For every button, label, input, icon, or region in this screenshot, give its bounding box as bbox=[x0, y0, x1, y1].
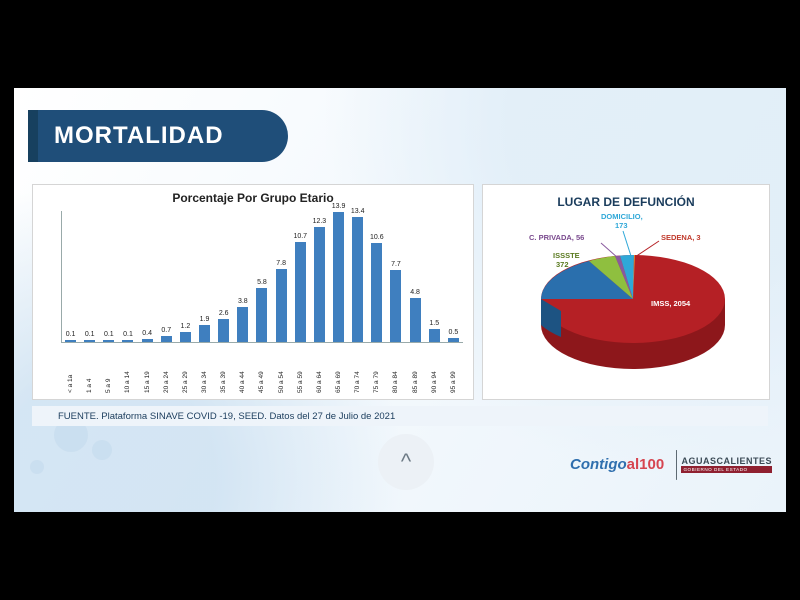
bar-value-label: 0.1 bbox=[85, 331, 95, 338]
x-tick-label: 35 a 39 bbox=[220, 343, 227, 393]
bar bbox=[352, 217, 363, 343]
x-tick: 70 a 74 bbox=[348, 343, 367, 393]
x-tick-label: 80 a 84 bbox=[392, 343, 399, 393]
x-tick: 20 a 24 bbox=[157, 343, 176, 393]
x-tick-label: 50 a 54 bbox=[278, 343, 285, 393]
logo-state-line2: GOBIERNO DEL ESTADO bbox=[681, 466, 772, 473]
bar bbox=[218, 319, 229, 344]
bar bbox=[371, 243, 382, 343]
bar-chart-panel: Porcentaje Por Grupo Etario 0.10.10.10.1… bbox=[32, 184, 474, 400]
x-tick: 15 a 19 bbox=[138, 343, 157, 393]
bar bbox=[237, 307, 248, 343]
x-tick-label: 90 a 94 bbox=[431, 343, 438, 393]
bar bbox=[256, 288, 267, 343]
bar-item: 1.2 bbox=[176, 211, 195, 343]
pie-chart-title: LUGAR DE DEFUNCIÓN bbox=[483, 195, 769, 209]
bar-series: 0.10.10.10.10.40.71.21.92.63.85.87.810.7… bbox=[61, 211, 463, 343]
x-tick: 60 a 64 bbox=[310, 343, 329, 393]
x-tick: 30 a 34 bbox=[195, 343, 214, 393]
pie-label-issea: ISSEA, 664 bbox=[501, 307, 540, 316]
bar-value-label: 0.5 bbox=[449, 329, 459, 336]
bar bbox=[390, 270, 401, 343]
logo-contigo-text: Contigo bbox=[570, 456, 627, 473]
bar-item: 0.1 bbox=[61, 211, 80, 343]
bar-item: 7.7 bbox=[386, 211, 405, 343]
bar bbox=[314, 227, 325, 343]
bar-item: 7.8 bbox=[272, 211, 291, 343]
pie-label-privada: C. PRIVADA, 56 bbox=[529, 233, 584, 242]
bar-item: 12.3 bbox=[310, 211, 329, 343]
bar-value-label: 0.7 bbox=[161, 327, 171, 334]
pie-label-issste-line2: 372 bbox=[556, 260, 569, 269]
x-tick: 25 a 29 bbox=[176, 343, 195, 393]
x-tick-label: 60 a 64 bbox=[316, 343, 323, 393]
bar-value-label: 3.8 bbox=[238, 298, 248, 305]
x-tick: 65 a 69 bbox=[329, 343, 348, 393]
chevron-up-icon: ^ bbox=[401, 451, 411, 473]
x-tick-label: 20 a 24 bbox=[163, 343, 170, 393]
bar-value-label: 2.6 bbox=[219, 310, 229, 317]
bar bbox=[429, 329, 440, 343]
bar bbox=[276, 269, 287, 343]
bar bbox=[295, 242, 306, 343]
bar-value-label: 7.7 bbox=[391, 261, 401, 268]
bar-value-label: 5.8 bbox=[257, 279, 267, 286]
decorative-circle bbox=[30, 460, 44, 474]
decorative-circle bbox=[92, 440, 112, 460]
bar bbox=[199, 325, 210, 343]
bar-item: 0.5 bbox=[444, 211, 463, 343]
bar-value-label: 1.2 bbox=[181, 323, 191, 330]
bar-value-label: 0.1 bbox=[123, 331, 133, 338]
bar-item: 0.1 bbox=[118, 211, 137, 343]
screenshot-root: MORTALIDAD Porcentaje Por Grupo Etario 0… bbox=[0, 0, 800, 600]
x-tick-label: 40 a 44 bbox=[239, 343, 246, 393]
x-tick-label: 55 a 59 bbox=[297, 343, 304, 393]
x-tick-label: 95 a 99 bbox=[450, 343, 457, 393]
x-tick-label: 45 a 49 bbox=[258, 343, 265, 393]
x-tick: 35 a 39 bbox=[214, 343, 233, 393]
pie-label-sedena: SEDENA, 3 bbox=[661, 233, 701, 242]
x-tick: 85 a 89 bbox=[406, 343, 425, 393]
page-title: MORTALIDAD bbox=[54, 122, 224, 150]
bar-item: 0.7 bbox=[157, 211, 176, 343]
bar-item: 1.5 bbox=[425, 211, 444, 343]
bar-value-label: 10.6 bbox=[370, 234, 384, 241]
x-tick: 1 a 4 bbox=[80, 343, 99, 393]
x-tick-label: 65 a 69 bbox=[335, 343, 342, 393]
pie-label-issste-line1: ISSSTE bbox=[553, 251, 580, 260]
x-tick-label: 1 a 4 bbox=[86, 343, 93, 393]
x-tick-label: 30 a 34 bbox=[201, 343, 208, 393]
bar-value-label: 13.9 bbox=[332, 203, 346, 210]
x-tick-label: 25 a 29 bbox=[182, 343, 189, 393]
bar-value-label: 13.4 bbox=[351, 208, 365, 215]
bar-value-label: 7.8 bbox=[276, 260, 286, 267]
x-tick: 40 a 44 bbox=[233, 343, 252, 393]
bar-item: 4.8 bbox=[406, 211, 425, 343]
bar-item: 10.7 bbox=[291, 211, 310, 343]
bar bbox=[410, 298, 421, 343]
x-tick: 90 a 94 bbox=[425, 343, 444, 393]
bar-chart-plot: 0.10.10.10.10.40.71.21.92.63.85.87.810.7… bbox=[61, 211, 463, 343]
pie-label-domicilio-line1: DOMICILIO, bbox=[601, 212, 643, 221]
scroll-up-button[interactable]: ^ bbox=[378, 434, 434, 490]
bar-value-label: 10.7 bbox=[293, 233, 307, 240]
bar-item: 2.6 bbox=[214, 211, 233, 343]
bar-item: 0.1 bbox=[80, 211, 99, 343]
pie-chart-svg bbox=[483, 213, 769, 399]
bar-item: 13.4 bbox=[348, 211, 367, 343]
logo-contigo-al-100: Contigo al100 bbox=[570, 456, 664, 473]
pie-label-imss: IMSS, 2054 bbox=[651, 299, 690, 308]
source-note-bar: FUENTE. Plataforma SINAVE COVID -19, SEE… bbox=[32, 406, 768, 426]
x-tick: 55 a 59 bbox=[291, 343, 310, 393]
x-tick: 5 a 9 bbox=[99, 343, 118, 393]
x-tick: 95 a 99 bbox=[444, 343, 463, 393]
x-tick-label: 70 a 74 bbox=[354, 343, 361, 393]
pie-label-domicilio-line2: 173 bbox=[615, 221, 628, 230]
bar-value-label: 1.9 bbox=[200, 316, 210, 323]
x-tick: 10 a 14 bbox=[118, 343, 137, 393]
y-axis-line bbox=[61, 211, 62, 343]
bar-chart-title: Porcentaje Por Grupo Etario bbox=[33, 191, 473, 205]
bar-item: 13.9 bbox=[329, 211, 348, 343]
x-tick: 75 a 79 bbox=[367, 343, 386, 393]
x-tick-label: 5 a 9 bbox=[105, 343, 112, 393]
bar-item: 5.8 bbox=[252, 211, 271, 343]
bar-value-label: 4.8 bbox=[410, 289, 420, 296]
bar-value-label: 1.5 bbox=[429, 320, 439, 327]
bar-value-label: 12.3 bbox=[313, 218, 327, 225]
bar bbox=[333, 212, 344, 343]
bar-item: 10.6 bbox=[367, 211, 386, 343]
bar-item: 0.4 bbox=[138, 211, 157, 343]
x-axis-tick-labels: < a 1a1 a 45 a 910 a 1415 a 1920 a 2425 … bbox=[61, 343, 463, 393]
x-tick-label: 85 a 89 bbox=[412, 343, 419, 393]
logo-state-line1: AGUASCALIENTES bbox=[681, 457, 772, 467]
slide: MORTALIDAD Porcentaje Por Grupo Etario 0… bbox=[14, 88, 786, 512]
slide-title-banner: MORTALIDAD bbox=[28, 110, 288, 162]
bar-item: 3.8 bbox=[233, 211, 252, 343]
x-tick-label: 15 a 19 bbox=[144, 343, 151, 393]
bar-item: 1.9 bbox=[195, 211, 214, 343]
logo-aguascalientes: AGUASCALIENTES GOBIERNO DEL ESTADO bbox=[676, 448, 772, 482]
source-note: FUENTE. Plataforma SINAVE COVID -19, SEE… bbox=[58, 411, 395, 422]
bar-value-label: 0.1 bbox=[66, 331, 76, 338]
x-tick: 45 a 49 bbox=[252, 343, 271, 393]
pie-chart-plot: IMSS, 2054 ISSEA, 664 ISSSTE 372 C. PRIV… bbox=[483, 213, 769, 399]
pie-chart-panel: LUGAR DE DEFUNCIÓN bbox=[482, 184, 770, 400]
x-tick: 80 a 84 bbox=[386, 343, 405, 393]
bar-item: 0.1 bbox=[99, 211, 118, 343]
x-tick-label: < a 1a bbox=[67, 343, 74, 393]
x-tick: 50 a 54 bbox=[272, 343, 291, 393]
x-tick-label: 75 a 79 bbox=[373, 343, 380, 393]
logo-al100-text: al100 bbox=[627, 456, 665, 473]
x-tick: < a 1a bbox=[61, 343, 80, 393]
bar-value-label: 0.1 bbox=[104, 331, 114, 338]
bar-value-label: 0.4 bbox=[142, 330, 152, 337]
x-tick-label: 10 a 14 bbox=[124, 343, 131, 393]
